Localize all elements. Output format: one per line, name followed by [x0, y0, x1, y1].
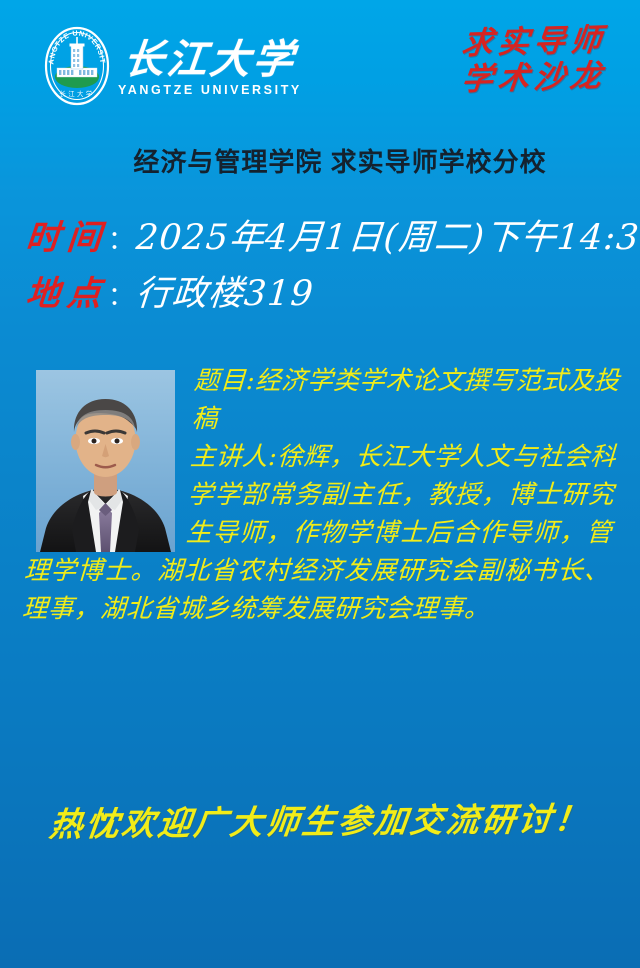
event-place-row: 地点 ： 行政楼319 — [26, 270, 626, 320]
event-place-label: 地点 — [24, 270, 110, 318]
event-time-label: 时间 — [24, 214, 110, 262]
university-name-block: 长江大学 YANGTZE UNIVERSITY — [118, 34, 302, 98]
salon-line-2: 学术沙龙 — [460, 58, 609, 98]
event-time-row: 时间 ： 2025年4月1日(周二)下午14:30 — [26, 214, 626, 264]
salon-line-1: 求实导师 — [460, 22, 609, 62]
salon-brand-text: 求实导师 学术沙龙 — [462, 24, 606, 96]
university-logo-block: YANGTZE UNIVERSITY — [44, 26, 302, 106]
poster-header: YANGTZE UNIVERSITY — [0, 0, 640, 128]
university-seal-icon: YANGTZE UNIVERSITY — [44, 26, 110, 106]
event-place-colon: ： — [108, 272, 136, 320]
page-title: 经济与管理学院 求实导师学校分校 — [0, 145, 640, 179]
poster-body-text: 题目:经济学类学术论文撰写范式及投稿 主讲人:徐辉，长江大学人文与社会科学学部常… — [21, 362, 621, 628]
event-place-value: 行政楼319 — [134, 270, 315, 318]
university-name-en: YANGTZE UNIVERSITY — [118, 83, 302, 98]
welcome-message: 热忱欢迎广大师生参加交流研讨！ — [0, 797, 640, 848]
event-time-value: 2025年4月1日(周二)下午14:30 — [134, 214, 640, 262]
university-name-cn: 长江大学 — [122, 38, 299, 82]
event-time-colon: ： — [108, 216, 136, 264]
poster-root: YANGTZE UNIVERSITY — [0, 0, 640, 968]
portrait-text-wrap-spacer — [25, 362, 195, 547]
event-meta: 时间 ： 2025年4月1日(周二)下午14:30 地点 ： 行政楼319 — [26, 214, 626, 326]
svg-text:长江大学: 长江大学 — [59, 89, 94, 98]
